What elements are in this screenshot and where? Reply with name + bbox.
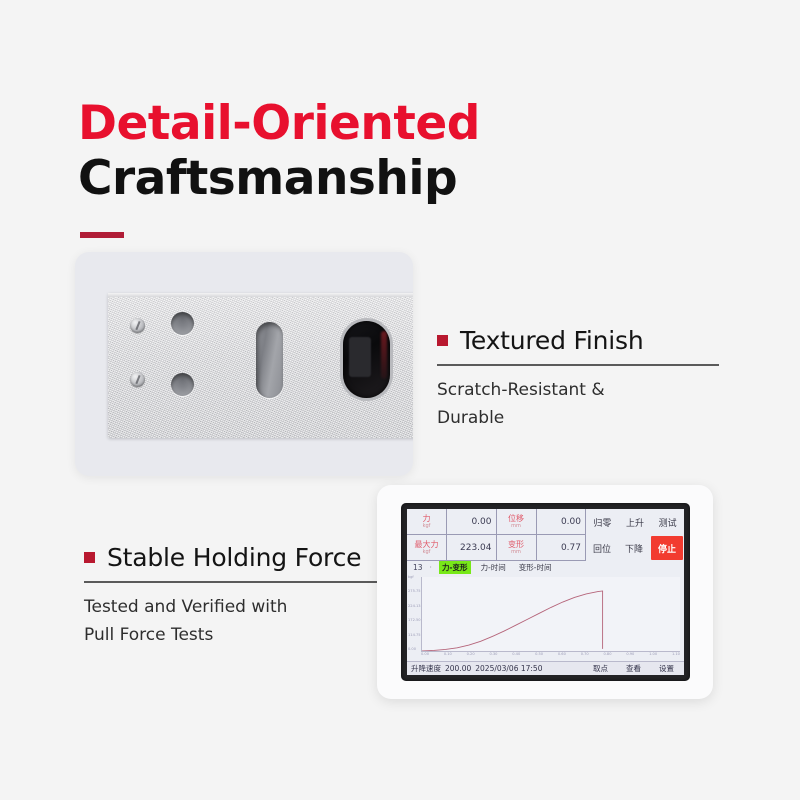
x-tick: 1.00 [649,653,657,660]
take-point-button[interactable]: 取点 [593,663,608,674]
x-tick: 0.50 [535,653,543,660]
x-tick: 0.60 [558,653,566,660]
speed-value: 200.00 [445,664,471,673]
return-button[interactable]: 回位 [586,535,618,561]
accent-divider [80,232,124,238]
feature-divider [437,364,719,366]
datetime-text: 2025/03/06 17:50 [475,664,542,673]
max-force-unit: kgf [423,550,431,555]
control-button-pad: 归零 上升 测试 回位 下降 停止 [586,509,684,561]
control-button-row-2: 回位 下降 停止 [586,535,684,561]
feature-description-line-1: Tested and Verified with [84,594,380,622]
oval-cutout [343,321,390,398]
displacement-unit: mm [511,524,521,529]
headline-line-1: Detail-Oriented [78,100,718,147]
table-row: 力 kgf 0.00 位移 mm 0.00 [407,509,586,535]
slot-hole [256,322,283,398]
y-tick: 0.00 [408,648,421,652]
max-force-label-text: 最大力 [415,541,439,549]
feature-stable-holding-force: Stable Holding Force Tested and Verified… [84,543,380,649]
control-button-row-1: 归零 上升 测试 [586,509,684,535]
zero-button[interactable]: 归零 [586,509,619,535]
screw-icon [130,318,145,333]
x-tick: 1.10 [672,653,680,660]
displacement-value: 0.00 [537,509,587,535]
y-tick: 224.13 [408,605,421,609]
record-index: 13 [413,563,423,572]
force-label-text: 力 [423,515,431,523]
y-tick: kgf [408,576,421,580]
screw-icon [130,372,145,387]
plate-top-edge [108,293,413,297]
status-bar: 升降速度 200.00 2025/03/06 17:50 取点 查看 设置 [407,661,684,675]
tester-device-card: 力 kgf 0.00 位移 mm 0.00 [377,485,713,699]
y-tick: 275.75 [408,590,421,594]
max-force-label: 最大力 kgf [407,535,447,561]
force-deformation-chart[interactable]: kgf275.75224.13172.50114.750.00 0.000.10… [407,574,684,661]
aluminum-bracket-plate [108,293,413,438]
square-bullet-icon [437,335,448,346]
x-tick: 0.00 [421,653,429,660]
down-button[interactable]: 下降 [618,535,650,561]
x-axis-tick-labels: 0.000.100.200.300.400.500.600.700.800.90… [421,653,680,660]
speed-label: 升降速度 [411,663,441,674]
feature-textured-finish: Textured Finish Scratch-Resistant & Dura… [437,326,719,432]
stop-button[interactable]: 停止 [651,536,683,560]
square-bullet-icon [84,552,95,563]
measurement-table: 力 kgf 0.00 位移 mm 0.00 [407,509,586,561]
x-tick: 0.90 [626,653,634,660]
y-tick: 114.75 [408,634,421,638]
max-force-value: 223.04 [447,535,497,561]
round-hole [171,312,194,335]
bracket-photo-card [75,252,413,476]
tester-screen[interactable]: 力 kgf 0.00 位移 mm 0.00 [407,509,684,675]
force-label: 力 kgf [407,509,447,535]
x-tick: 0.10 [444,653,452,660]
status-actions: 取点 查看 设置 [593,663,684,674]
tab-force-time[interactable]: 力-时间 [478,561,509,574]
y-tick: 172.50 [408,619,421,623]
poster-canvas: Detail-Oriented Craftsmanship Textured F… [0,0,800,800]
feature-description: Scratch-Resistant & Durable [437,377,719,432]
readout-area: 力 kgf 0.00 位移 mm 0.00 [407,509,684,561]
deformation-label-text: 变形 [508,541,524,549]
chart-tab-bar: 13 · 力-变形 力-时间 变形-时间 [407,561,684,574]
force-value: 0.00 [447,509,497,535]
x-tick: 0.40 [512,653,520,660]
displacement-label: 位移 mm [497,509,537,535]
x-tick: 0.80 [604,653,612,660]
oval-cutout-inner [349,337,371,377]
force-unit: kgf [423,524,431,529]
feature-description-line-2: Durable [437,405,719,433]
x-tick: 0.30 [489,653,497,660]
x-tick: 0.20 [467,653,475,660]
feature-description-line-1: Scratch-Resistant & [437,377,719,405]
view-button[interactable]: 查看 [626,663,641,674]
y-axis-tick-labels: kgf275.75224.13172.50114.750.00 [408,576,421,652]
separator-dot: · [430,563,432,572]
feature-title: Textured Finish [460,326,644,355]
test-button[interactable]: 测试 [651,509,684,535]
feature-description: Tested and Verified with Pull Force Test… [84,594,380,649]
chart-plot-area [421,577,680,652]
table-row: 最大力 kgf 223.04 变形 mm 0.77 [407,535,586,561]
force-curve [422,577,680,651]
up-button[interactable]: 上升 [619,509,652,535]
displacement-label-text: 位移 [508,515,524,523]
device-bezel: 力 kgf 0.00 位移 mm 0.00 [401,503,690,681]
headline-line-2: Craftsmanship [78,155,718,202]
tab-force-deformation[interactable]: 力-变形 [439,561,471,574]
deformation-unit: mm [511,550,521,555]
headline-block: Detail-Oriented Craftsmanship [78,100,718,202]
oval-cutout-gleam [381,331,387,379]
deformation-label: 变形 mm [497,535,537,561]
feature-title: Stable Holding Force [107,543,361,572]
settings-button[interactable]: 设置 [659,663,674,674]
x-tick: 0.70 [581,653,589,660]
round-hole [171,373,194,396]
tab-deformation-time[interactable]: 变形-时间 [516,561,555,574]
feature-divider [84,581,380,583]
feature-description-line-2: Pull Force Tests [84,622,380,650]
feature-heading: Textured Finish [437,326,719,355]
deformation-value: 0.77 [537,535,587,561]
feature-heading: Stable Holding Force [84,543,380,572]
